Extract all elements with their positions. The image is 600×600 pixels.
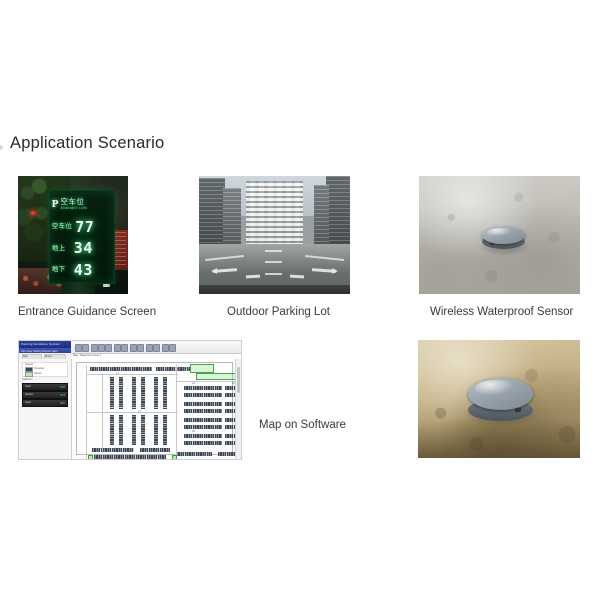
- stall-row: [140, 448, 170, 452]
- refresh-icon[interactable]: [130, 344, 137, 352]
- building-left: [199, 178, 225, 246]
- map-scrollbar[interactable]: [235, 359, 241, 459]
- stall-row: [90, 367, 152, 371]
- image-map-on-software[interactable]: Parking Guidance System File View Settin…: [18, 340, 242, 460]
- scrollbar-thumb[interactable]: [237, 367, 240, 393]
- led-heading-en: Available Lots: [61, 206, 88, 211]
- led-guidance-sign: P 空车位 Available Lots 空车位 77 地上 34 地下 43: [49, 190, 115, 284]
- aisle-line: [102, 373, 103, 453]
- led-row-value: 77: [75, 220, 94, 234]
- sign-pole: [62, 282, 95, 294]
- legend-label-vacant: Vacant: [34, 372, 41, 375]
- pan-icon[interactable]: [105, 344, 112, 352]
- stall-column: [154, 415, 158, 445]
- led-row-value: 43: [74, 263, 93, 277]
- stall-column: [132, 415, 136, 445]
- lane-marking: [265, 261, 282, 263]
- stall-column: [154, 377, 158, 409]
- settings-gear-icon[interactable]: [153, 344, 160, 352]
- parking-p-icon: P: [52, 199, 61, 210]
- lane-marking: [265, 273, 282, 275]
- select-icon[interactable]: [114, 344, 121, 352]
- stat-value: 366: [60, 401, 65, 405]
- stat-label: Used: [25, 401, 31, 405]
- caption-map-on-software: Map on Software: [259, 418, 346, 432]
- building-left-2: [223, 188, 241, 247]
- stall-column: [119, 415, 123, 445]
- led-row: 地下 43: [52, 263, 112, 277]
- stat-value: 520: [60, 385, 65, 389]
- aisle-line: [86, 374, 178, 375]
- title-bullet-icon: [0, 145, 3, 150]
- stall-row: [184, 425, 222, 429]
- stall-column: [163, 415, 167, 445]
- stall-column: [119, 377, 123, 409]
- stall-column: [132, 377, 136, 409]
- app-sidebar: Legend Occupied Vacant Statistics Total …: [19, 359, 72, 459]
- stall-column: [141, 377, 145, 409]
- zone-tag: C4: [138, 410, 141, 413]
- plan-zone-green: [196, 373, 238, 380]
- stall-row: [184, 418, 222, 422]
- stat-label: Total: [25, 385, 30, 389]
- stall-row: [92, 448, 134, 452]
- caption-outdoor-parking-lot: Outdoor Parking Lot: [227, 305, 330, 319]
- image-entrance-guidance-screen[interactable]: P 空车位 Available Lots 空车位 77 地上 34 地下 43: [18, 176, 128, 294]
- stall-row: [176, 452, 212, 456]
- zoom-out-icon[interactable]: [98, 344, 105, 352]
- led-row: 地上 34: [52, 241, 112, 255]
- layer-icon[interactable]: [121, 344, 128, 352]
- stall-column: [110, 377, 114, 409]
- stat-label: Vacant: [25, 393, 33, 397]
- image-outdoor-parking-lot[interactable]: [199, 176, 350, 294]
- legend-label-occupied: Occupied: [34, 367, 44, 370]
- plan-zone-green: [190, 364, 214, 373]
- zoom-in-icon[interactable]: [91, 344, 98, 352]
- led-row-label: 地下: [52, 266, 71, 273]
- help-icon[interactable]: [169, 344, 176, 352]
- stat-row-used: Used 366: [22, 399, 68, 407]
- app-title: Parking Guidance System: [21, 342, 60, 346]
- stall-row: [156, 367, 190, 371]
- app-menu-items: File View Setting Report Help: [21, 349, 57, 353]
- caption-entrance-guidance-screen: Entrance Guidance Screen: [18, 305, 156, 319]
- statistics-title: Statistics: [22, 378, 32, 381]
- stall-row: [184, 386, 222, 390]
- building-right-2: [314, 185, 329, 249]
- led-counter-rows: 空车位 77 地上 34 地下 43: [52, 216, 112, 280]
- legend-panel: Legend Occupied Vacant: [22, 362, 68, 377]
- breadcrumb: Map / Basement Level 1: [73, 354, 101, 357]
- foreground-shadow: [199, 285, 350, 294]
- stall-column: [163, 377, 167, 409]
- legend-swatch-vacant: [25, 372, 33, 377]
- report-icon[interactable]: [162, 344, 169, 352]
- building-tower: [246, 181, 303, 252]
- stall-row: [184, 409, 222, 413]
- image-wireless-waterproof-sensor[interactable]: [419, 176, 580, 294]
- stat-value: 154: [60, 393, 65, 397]
- print-icon[interactable]: [137, 344, 144, 352]
- image-sensor-on-ground[interactable]: [418, 340, 580, 458]
- stat-row-total: Total 520: [22, 383, 68, 391]
- building-right: [326, 176, 350, 249]
- caption-wireless-waterproof-sensor: Wireless Waterproof Sensor: [430, 305, 573, 319]
- stall-row: [184, 402, 222, 406]
- led-row-label: 地上: [52, 245, 71, 252]
- lane-marking: [265, 250, 282, 252]
- aisle-line: [86, 412, 178, 413]
- stat-row-vacant: Vacant 154: [22, 391, 68, 399]
- app-toolbar[interactable]: [71, 341, 241, 354]
- sensor-highlight: [475, 380, 517, 397]
- led-sign-header: P 空车位 Available Lots: [50, 191, 114, 216]
- save-icon[interactable]: [82, 344, 89, 352]
- zone-tag: A1: [192, 382, 195, 385]
- map-canvas[interactable]: A1 B1 A6 C1 C4: [72, 359, 241, 459]
- page-root: Application Scenario P 空车位 Available Lot…: [0, 0, 600, 600]
- stall-row: [184, 441, 222, 445]
- led-row: 空车位 77: [52, 220, 112, 234]
- led-row-value: 34: [74, 241, 93, 255]
- stall-row: [184, 434, 222, 438]
- stall-column: [141, 415, 145, 445]
- led-row-label: 空车位: [52, 223, 72, 230]
- stall-column: [110, 415, 114, 445]
- sensor-notch: [490, 243, 494, 245]
- map-node-marker[interactable]: [88, 455, 93, 459]
- led-heading-cn: 空车位: [61, 198, 88, 206]
- map-node-marker[interactable]: [172, 455, 177, 459]
- aisle-line: [176, 365, 177, 457]
- search-icon[interactable]: [146, 344, 153, 352]
- stall-row: [184, 393, 222, 397]
- open-icon[interactable]: [75, 344, 82, 352]
- page-title: Application Scenario: [10, 132, 164, 154]
- legend-title: Legend: [25, 363, 33, 366]
- zone-tag: C1: [116, 372, 119, 375]
- zone-tag: A6: [192, 430, 195, 433]
